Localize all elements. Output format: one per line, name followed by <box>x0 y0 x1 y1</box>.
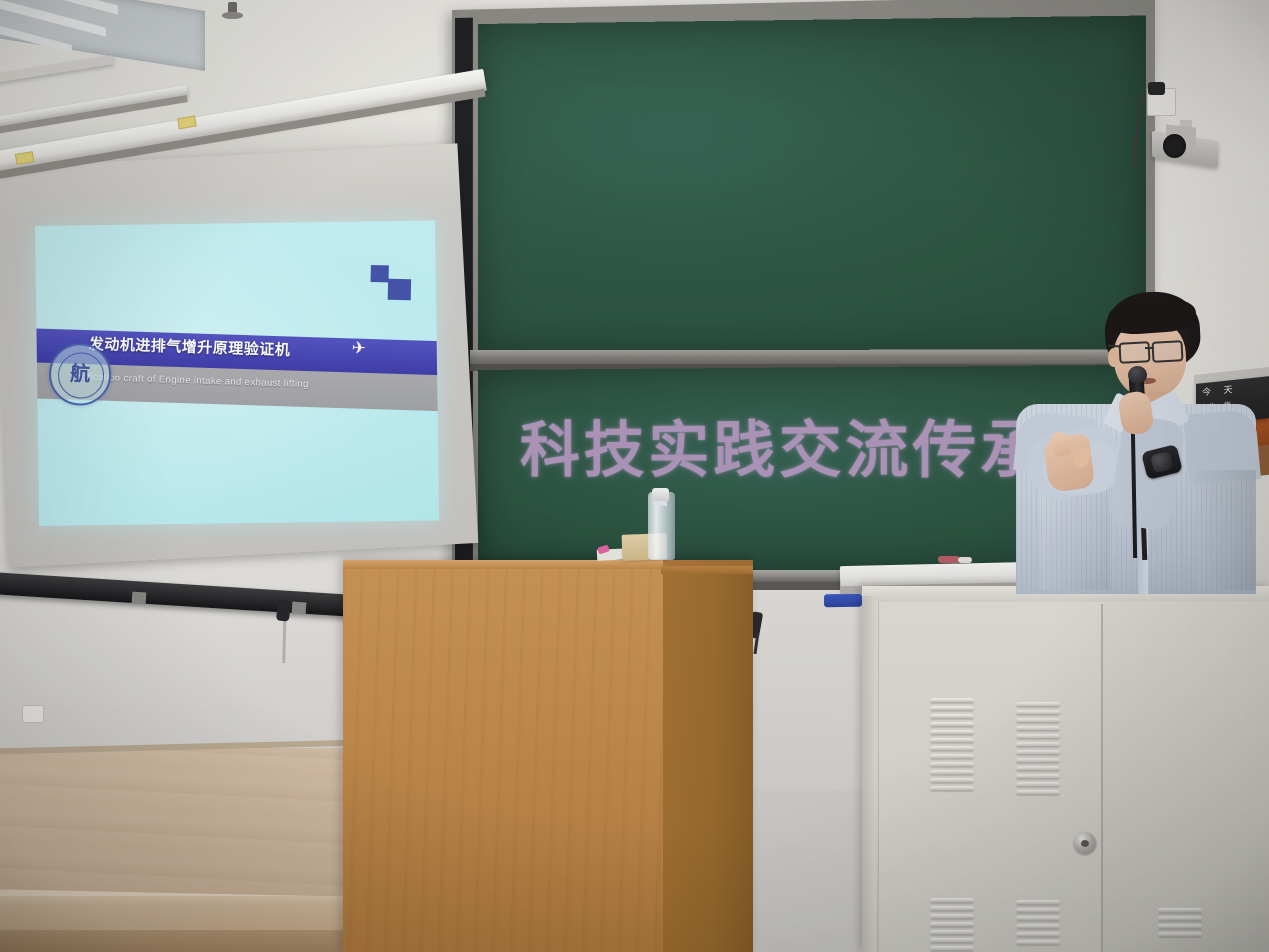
screen-cord-knob[interactable] <box>276 599 291 621</box>
screen-bracket <box>132 592 147 605</box>
lectern-front-panel <box>343 566 663 952</box>
camera-lens-icon <box>1163 134 1186 158</box>
cabinet-vent <box>1016 702 1060 798</box>
sprinkler-cap <box>222 12 243 19</box>
plug-icon[interactable] <box>1148 82 1165 95</box>
cabinet-vent <box>930 898 974 952</box>
cabinet-side <box>862 596 876 952</box>
projected-slide: 发动机进排气增升原理验证机 ✈ Verification craft of En… <box>35 220 439 526</box>
screen-bracket <box>292 602 307 615</box>
bottle-cap[interactable] <box>652 488 669 501</box>
projection-screen: 发动机进排气增升原理验证机 ✈ Verification craft of En… <box>0 143 479 587</box>
cabinet-door-left[interactable] <box>878 602 1101 952</box>
airplane-icon: ✈ <box>346 333 371 364</box>
slide-deco-square <box>371 265 389 282</box>
lecture-hall-photo: 科技实践交流传承会 今 天 你 悔 发动机进排气增升原理验证机 ✈ Verifi… <box>0 0 1269 952</box>
cabinet-vent <box>930 698 974 794</box>
housing-label <box>177 115 197 129</box>
seal-glyph: 航 <box>69 359 92 390</box>
lectern-side-panel <box>663 572 753 952</box>
glasses-bridge <box>1145 347 1154 349</box>
glasses-icon <box>1118 341 1150 364</box>
chalk-fragment <box>958 557 972 563</box>
cabinet-door-right[interactable] <box>1101 604 1269 952</box>
glasses-icon <box>1151 340 1183 363</box>
slide-deco-square <box>388 279 411 300</box>
lectern-top-edge <box>661 566 753 574</box>
stage-step-riser <box>0 930 348 952</box>
blue-eraser[interactable] <box>824 594 862 608</box>
presenter-ear <box>1108 348 1119 367</box>
cabinet-vent <box>1016 900 1060 948</box>
shirt-fold <box>1196 470 1256 590</box>
housing-label <box>15 151 35 165</box>
lock-keyhole <box>1081 840 1089 847</box>
power-outlet-icon[interactable] <box>22 705 44 723</box>
cabinet-vent <box>1158 908 1202 940</box>
lectern-top-edge <box>343 560 663 569</box>
chalk-fragment <box>938 556 960 563</box>
blackboard-chalk-text: 科技实践交流传承会 <box>520 406 1036 495</box>
